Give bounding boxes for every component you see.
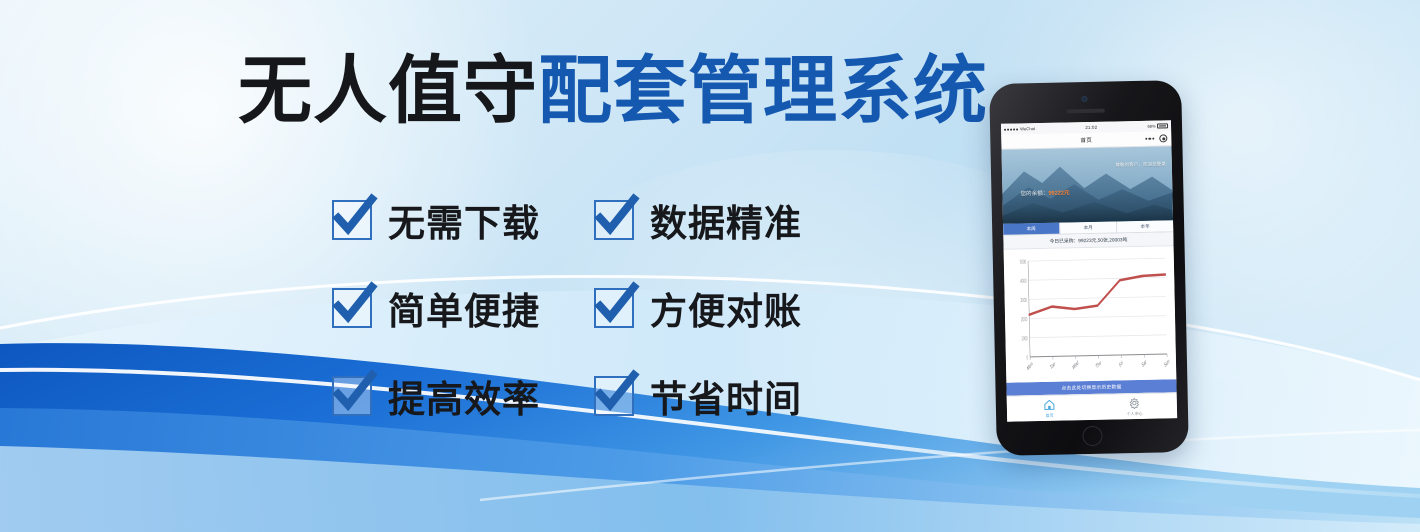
page-title: 无人值守配套管理系统 (238, 52, 988, 130)
checkbox-checked-icon (594, 376, 634, 416)
tabbar-item-home[interactable]: 首页 (1007, 395, 1093, 422)
close-circle-icon[interactable] (1159, 134, 1167, 142)
balance-label: 您的余额： (1020, 191, 1048, 198)
feature-label: 无需下载 (388, 193, 540, 247)
svg-text:Tue: Tue (1050, 360, 1057, 372)
feature-label: 提高效率 (388, 369, 540, 423)
battery-icon: 68% (1147, 123, 1168, 128)
svg-text:4000: 4000 (1020, 278, 1027, 284)
phone-screen: WeChat 21:02 68% 首页 (1001, 120, 1177, 421)
checkbox-checked-icon (332, 288, 372, 328)
tab-year[interactable]: 本年 (1117, 220, 1173, 232)
bottom-tab-bar: 首页 个人中心 (1007, 392, 1178, 422)
hero-greeting: 尊敬的客户，欢迎您登录 (1115, 161, 1166, 168)
svg-text:Thu: Thu (1095, 359, 1102, 371)
svg-text:3000: 3000 (1020, 297, 1027, 303)
phone-home-button[interactable] (1082, 426, 1102, 446)
feature-item-3: 方便对账 (594, 281, 856, 335)
balance-value: 99222元 (1048, 190, 1069, 196)
phone-mockup: WeChat 21:02 68% 首页 (989, 80, 1189, 456)
svg-text:1000: 1000 (1021, 335, 1028, 341)
tabbar-label: 首页 (1046, 412, 1054, 418)
gear-icon (1128, 396, 1141, 409)
feature-label: 数据精准 (650, 193, 802, 247)
carrier-label: WeChat (1020, 126, 1035, 131)
feature-list: 无需下载 数据精准 简单便捷 方便对账 (332, 176, 856, 440)
feature-label: 方便对账 (650, 281, 802, 335)
chart-canvas: 010002000300040005000MonTueWedThuFriSatS… (1007, 250, 1174, 382)
feature-label: 节省时间 (650, 369, 802, 423)
svg-text:Sat: Sat (1141, 358, 1147, 370)
headline-dark-part: 无人值守 (238, 49, 538, 132)
phone-speaker (1067, 109, 1105, 114)
feature-label: 简单便捷 (388, 281, 540, 335)
line-chart: 010002000300040005000MonTueWedThuFriSatS… (1004, 246, 1177, 383)
feature-item-1: 数据精准 (594, 193, 856, 247)
tab-week[interactable]: 本周 (1003, 223, 1060, 235)
svg-text:Mon: Mon (1026, 360, 1033, 373)
feature-item-5: 节省时间 (594, 369, 856, 423)
tabbar-item-profile[interactable]: 个人中心 (1092, 393, 1178, 420)
svg-text:5000: 5000 (1020, 259, 1027, 265)
promo-banner: 无人值守配套管理系统 无需下载 数据精准 (0, 0, 1420, 532)
more-dots-icon[interactable] (1145, 138, 1154, 140)
checkbox-checked-icon (594, 200, 634, 240)
svg-text:Wed: Wed (1072, 359, 1079, 372)
signal-dots-icon (1004, 128, 1018, 130)
svg-text:2000: 2000 (1021, 316, 1028, 322)
hero-balance: 您的余额：99222元 (1020, 188, 1069, 197)
feature-item-0: 无需下载 (332, 193, 594, 247)
home-icon (1043, 398, 1056, 411)
hero-banner: 尊敬的客户，欢迎您登录 您的余额：99222元 (1002, 146, 1174, 224)
battery-percent: 68% (1147, 124, 1155, 129)
mountain-illustration (1002, 146, 1174, 224)
checkbox-checked-icon (332, 200, 372, 240)
tab-month[interactable]: 本月 (1060, 221, 1117, 233)
checkbox-checked-icon (594, 288, 634, 328)
feature-item-2: 简单便捷 (332, 281, 594, 335)
svg-text:Fri: Fri (1119, 360, 1124, 370)
headline-blue-part: 配套管理系统 (538, 49, 988, 132)
svg-text:0: 0 (1026, 354, 1028, 360)
feature-item-4: 提高效率 (332, 369, 594, 423)
svg-text:Sun: Sun (1164, 358, 1171, 370)
tabbar-label: 个人中心 (1126, 410, 1142, 416)
checkbox-checked-icon (332, 376, 372, 416)
phone-camera-icon (1081, 96, 1087, 102)
status-time: 21:02 (1035, 124, 1148, 131)
